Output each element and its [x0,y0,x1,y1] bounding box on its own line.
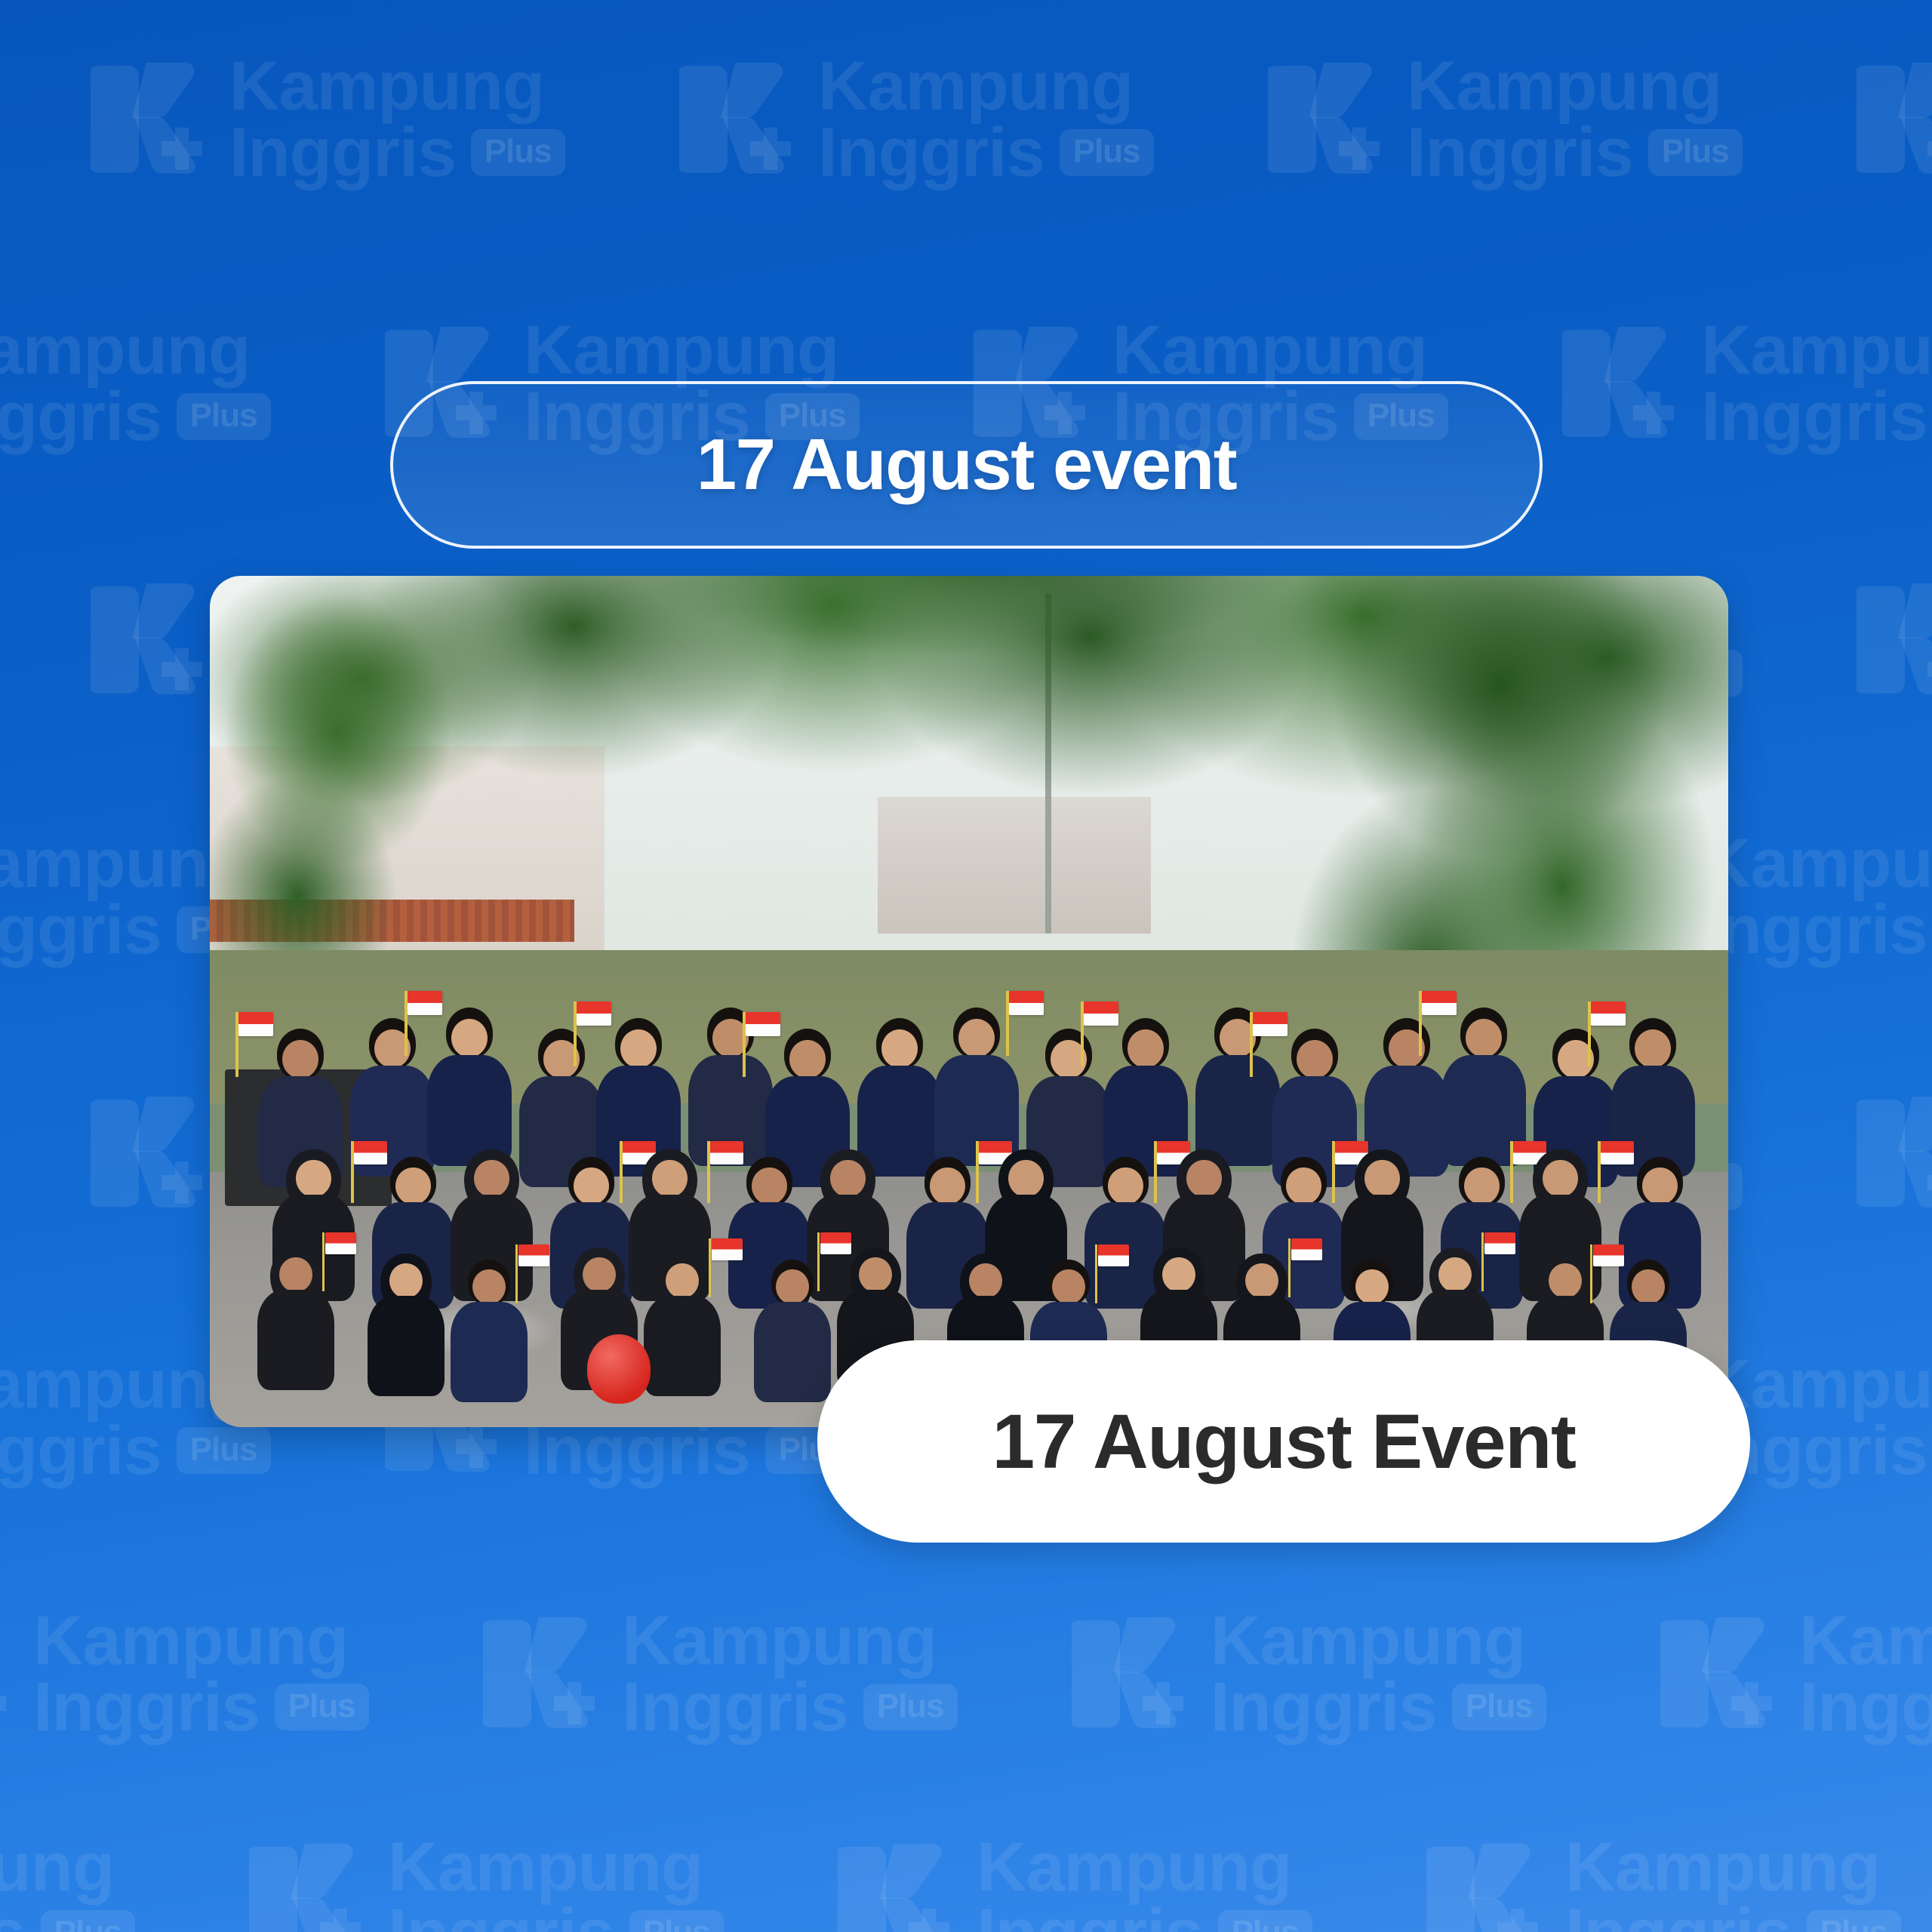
watermark-plus-badge: Plus [629,1910,724,1932]
photo-person [752,1260,833,1413]
photo-indonesian-flag [1593,1244,1624,1266]
photo-crowd [210,576,1728,1427]
watermark-line-1: Kampung [229,53,565,119]
watermark-line-2: Inggris [1407,119,1633,186]
watermark-logo: Kampung Inggris Plus [1857,1087,1932,1220]
k-plus-logo-icon [838,1836,951,1932]
k-plus-logo-icon [1857,55,1932,183]
k-plus-logo-icon [0,1610,8,1738]
photo-flag-stick [1510,1141,1513,1204]
photo-flag-stick [1154,1141,1157,1204]
photo-flag-stick [1081,1001,1084,1066]
watermark-line-1: Kampung [1407,53,1743,119]
photo-flag-stick [322,1232,325,1291]
watermark-line-2: Inggris [977,1900,1203,1932]
page-title: 17 August event [697,423,1236,506]
watermark-wordmark: Kampung Inggris Plus [1799,1607,1932,1741]
photo-indonesian-flag [1098,1244,1129,1266]
photo-flag-stick [574,1001,577,1066]
watermark-logo: Kampung Inggris Plus [838,1834,1312,1932]
watermark-line-2: Inggris [1211,1674,1437,1740]
watermark-line-2: Inggris [0,1417,162,1484]
watermark-plus-badge: Plus [863,1684,958,1730]
watermark-plus-badge: Plus [177,1427,271,1474]
photo-flag-stick [1598,1141,1601,1204]
watermark-logo: Kampung Inggris Plus [0,317,271,451]
photo-flag-stick [976,1141,979,1204]
watermark-wordmark: Kampung Inggris Plus [229,53,565,186]
photo-indonesian-flag [746,1012,780,1036]
k-plus-logo-icon [1426,1836,1540,1932]
watermark-plus-badge: Plus [1648,129,1743,176]
watermark-logo: Kampung Inggris Plus [0,1834,135,1932]
k-plus-logo-icon [249,1836,362,1932]
watermark-line-1: Kampung [818,53,1154,119]
photo-flag-stick [1006,991,1009,1056]
photo-flag-stick [351,1141,354,1204]
photo-indonesian-flag [712,1238,743,1260]
watermark-line-2: Inggris [1701,383,1927,450]
watermark-plus-badge: Plus [471,129,565,176]
k-plus-logo-icon [1562,319,1675,448]
photo-flag-stick [515,1244,518,1303]
watermark-line-2: Inggris [33,1674,260,1740]
watermark-line-2: Inggris [1701,897,1927,963]
watermark-wordmark: Kampung Inggris Plus [1211,1607,1546,1741]
k-plus-logo-icon [91,576,204,704]
photo-flag-stick [743,1012,746,1077]
watermark-line-2: Inggris [818,119,1044,186]
photo-flag-stick [1250,1012,1253,1077]
photo-flag-stick [1095,1244,1098,1303]
photo-person [365,1254,447,1407]
watermark-line-1: Kampung [1211,1607,1546,1674]
watermark-line-1: Kampung [1565,1834,1901,1900]
photo-flag-stick [405,991,408,1056]
photo-flag-stick [709,1238,712,1297]
watermark-logo: Kampung Inggris Plus [483,1607,958,1741]
watermark-line-2: Inggris [524,1417,750,1484]
watermark-line-1: Kampung [388,1834,724,1900]
watermark-wordmark: Kampung Inggris Plus [1407,53,1743,186]
watermark-logo: Kampung Inggris Plus [1857,574,1932,707]
watermark-wordmark: Kampung Inggris Plus [0,1834,135,1932]
watermark-logo: Kampung Inggris Plus [1857,53,1932,186]
photo-flag-stick [1419,991,1422,1056]
photo-flag-stick [235,1012,238,1077]
photo-indonesian-flag [518,1244,549,1266]
watermark-plus-badge: Plus [41,1910,135,1932]
k-plus-logo-icon [1660,1610,1774,1738]
watermark-wordmark: Kampung Inggris Plus [1565,1834,1901,1932]
watermark-wordmark: Kampung Inggris Plus [388,1834,724,1932]
photo-indonesian-flag [408,991,442,1015]
k-plus-logo-icon [91,1089,204,1217]
photo-red-balloon [587,1334,651,1404]
k-plus-logo-icon [483,1610,596,1738]
watermark-line-2: Inggris [622,1674,848,1740]
photo-indonesian-flag [1084,1001,1118,1026]
watermark-line-1: Kampung [1799,1607,1932,1674]
watermark-logo: Kampung Inggris Plus [1072,1607,1546,1741]
photo-indonesian-flag [238,1012,273,1036]
photo-indonesian-flag [1601,1141,1634,1164]
k-plus-logo-icon [1072,1610,1185,1738]
watermark-line-2: Inggris [0,897,162,963]
photo-flag-stick [817,1232,820,1291]
k-plus-logo-icon [91,55,204,183]
photo-indonesian-flag [1291,1238,1322,1260]
photo-indonesian-flag [1484,1232,1515,1254]
watermark-line-1: Kampung [0,1834,135,1900]
watermark-wordmark: Kampung Inggris Plus [818,53,1154,186]
photo-indonesian-flag [1422,991,1457,1015]
watermark-logo: Kampung Inggris Plus [1426,1834,1901,1932]
photo-indonesian-flag [577,1001,611,1026]
watermark-plus-badge: Plus [1452,1684,1546,1730]
watermark-plus-badge: Plus [275,1684,369,1730]
photo-flag-stick [707,1141,710,1204]
watermark-line-2: Inggris [229,119,456,186]
watermark-wordmark: Kampung Inggris Plus [622,1607,958,1741]
watermark-line-2: Inggris [388,1900,614,1932]
watermark-plus-badge: Plus [177,393,271,440]
watermark-plus-badge: Plus [1807,1910,1901,1932]
photo-indonesian-flag [820,1232,851,1254]
photo-indonesian-flag [710,1141,743,1164]
watermark-line-1: Kampung [1112,317,1448,383]
photo-flag-stick [1288,1238,1291,1297]
watermark-line-1: Kampung [1701,317,1932,383]
watermark-wordmark: Kampung Inggris Plus [977,1834,1312,1932]
watermark-logo: Kampung Inggris Plus [1660,1607,1932,1741]
photo-indonesian-flag [1591,1001,1626,1026]
watermark-line-2: Inggris [0,1900,26,1932]
watermark-plus-badge: Plus [1218,1910,1312,1932]
k-plus-logo-icon [1268,55,1381,183]
photo-indonesian-flag [354,1141,387,1164]
watermark-line-2: Inggris [0,383,162,450]
watermark-wordmark: Kampung Inggris Plus [0,317,271,451]
event-photo-card[interactable] [210,576,1728,1427]
photo-flag-stick [620,1141,623,1204]
watermark-line-1: Kampung [622,1607,958,1674]
watermark-wordmark: Kampung Inggris Plus [33,1607,369,1741]
photo-indonesian-flag [1253,1012,1287,1036]
photo-indonesian-flag [325,1232,356,1254]
watermark-logo: Kampung Inggris Plus [1268,53,1743,186]
watermark-plus-badge: Plus [1060,129,1154,176]
caption-text: 17 August Event [992,1398,1576,1486]
watermark-logo: Kampung Inggris Plus [91,53,565,186]
watermark-line-1: Kampung [0,317,271,383]
watermark-line-1: Kampung [977,1834,1312,1900]
watermark-line-1: Kampung [1701,830,1932,897]
watermark-logo: Kampung Inggris Plus [679,53,1154,186]
photo-flag-stick [1590,1244,1593,1303]
photo-flag-stick [1588,1001,1591,1066]
watermark-line-1: Kampung [33,1607,369,1674]
photo-flag-stick [1332,1141,1335,1204]
photo-indonesian-flag [1009,991,1044,1015]
k-plus-logo-icon [1857,1089,1932,1217]
watermark-line-2: Inggris [1799,1674,1932,1740]
watermark-line-1: Kampung [524,317,860,383]
watermark-line-2: Inggris [1565,1900,1792,1932]
event-title-pill: 17 August event [390,381,1543,549]
k-plus-logo-icon [1857,576,1932,704]
watermark-logo: Kampung Inggris Plus [0,1607,369,1741]
watermark-wordmark: Kampung Inggris Plus [1701,317,1932,451]
photo-flag-stick [1481,1232,1484,1291]
watermark-logo: Kampung Inggris Plus [1562,317,1932,451]
k-plus-logo-icon [679,55,792,183]
watermark-logo: Kampung Inggris Plus [249,1834,724,1932]
watermark-wordmark: Kampung Inggris Plus [1701,830,1932,964]
event-caption-pill: 17 August Event [817,1340,1750,1543]
